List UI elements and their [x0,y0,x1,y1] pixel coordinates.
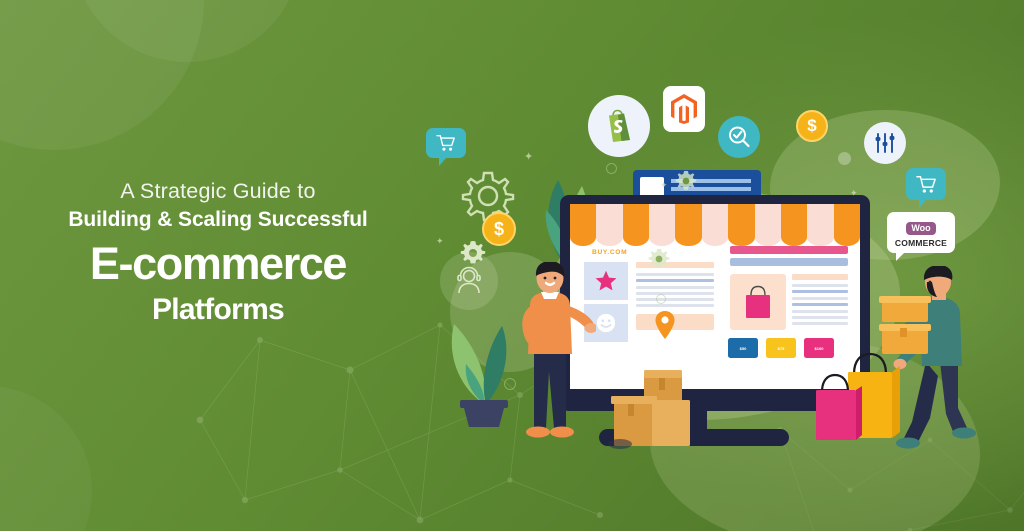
product-card[interactable] [730,274,786,330]
ecommerce-banner: A Strategic Guide to Building & Scaling … [0,0,1024,531]
ring-decoration [656,294,666,304]
dollar-coin-right-icon: $ [796,110,828,142]
sparkle-icon: ✦ [850,188,858,199]
sparkle-icon: ✦ [524,150,533,163]
headline-line-2: Building & Scaling Successful [0,204,436,236]
content-line [636,304,714,307]
cart-bubble-left-icon[interactable] [426,128,466,158]
shopping-bags [806,340,914,446]
content-line [636,292,714,295]
ring-decoration [606,163,617,174]
content-line-blue [792,303,848,306]
cart-icon [916,175,937,194]
woocommerce-logo[interactable]: Woo COMMERCE [887,212,955,253]
headline-block: A Strategic Guide to Building & Scaling … [0,178,436,328]
content-line [636,298,714,301]
awning-stripe [781,204,807,237]
content-line-blue [636,279,714,282]
awning-stripe [649,204,675,237]
content-line [636,286,714,289]
headline-line-4: Platforms [0,292,436,328]
cart-bubble-right-icon[interactable] [906,168,946,200]
shopify-logo[interactable] [588,95,650,157]
awning-stripe [807,204,833,237]
awning-stripe [834,204,860,237]
cardboard-boxes [606,370,698,450]
shop-awning [570,204,860,237]
content-line [792,310,848,313]
awning-stripe [702,204,728,237]
shopping-bag-icon [742,284,774,320]
content-line-blue [792,290,848,293]
awning-stripe [596,204,622,237]
header-bar-blue [730,258,848,266]
content-line [636,273,714,276]
support-agent-icon [453,265,485,297]
shopify-bag-icon [604,109,634,143]
magento-logo[interactable] [663,86,705,132]
sliders-icon [873,131,897,155]
headline-line-3: E-commerce [0,237,436,292]
content-line [792,297,848,300]
price-tag[interactable]: $75 [766,338,796,358]
verified-search-badge[interactable] [718,116,760,158]
awning-stripe [570,204,596,237]
content-line [792,316,848,319]
person-pointing [504,262,596,446]
smiley-icon [595,312,617,334]
sliders-badge[interactable] [864,122,906,164]
magento-icon [671,94,697,124]
content-line [792,322,848,325]
sparkle-icon: ✦ [660,180,668,191]
header-bar-pink [730,246,848,254]
gear-right-icon [675,170,697,192]
star-icon [594,269,618,293]
woocommerce-label-top: Woo [906,222,935,235]
location-pin-icon [654,310,676,340]
check-magnifier-icon [727,125,751,149]
dollar-coin-left-icon: $ [482,212,516,246]
awning-stripe [728,204,754,237]
gear-tiny-icon [648,248,670,270]
content-line [792,284,848,287]
support-agent-badge [440,252,498,310]
illustration: BUY.COM [420,40,1024,531]
price-tag[interactable]: $50 [728,338,758,358]
woocommerce-label-bottom: COMMERCE [894,238,948,248]
awning-stripe [623,204,649,237]
awning-stripe [755,204,781,237]
site-title: BUY.COM [592,249,627,256]
awning-stripe [675,204,701,237]
sparkle-icon: ✦ [436,236,444,247]
headline-line-1: A Strategic Guide to [0,178,436,204]
cart-icon [436,134,456,152]
content-bar-peach [792,274,848,280]
dot-decoration [838,152,851,165]
